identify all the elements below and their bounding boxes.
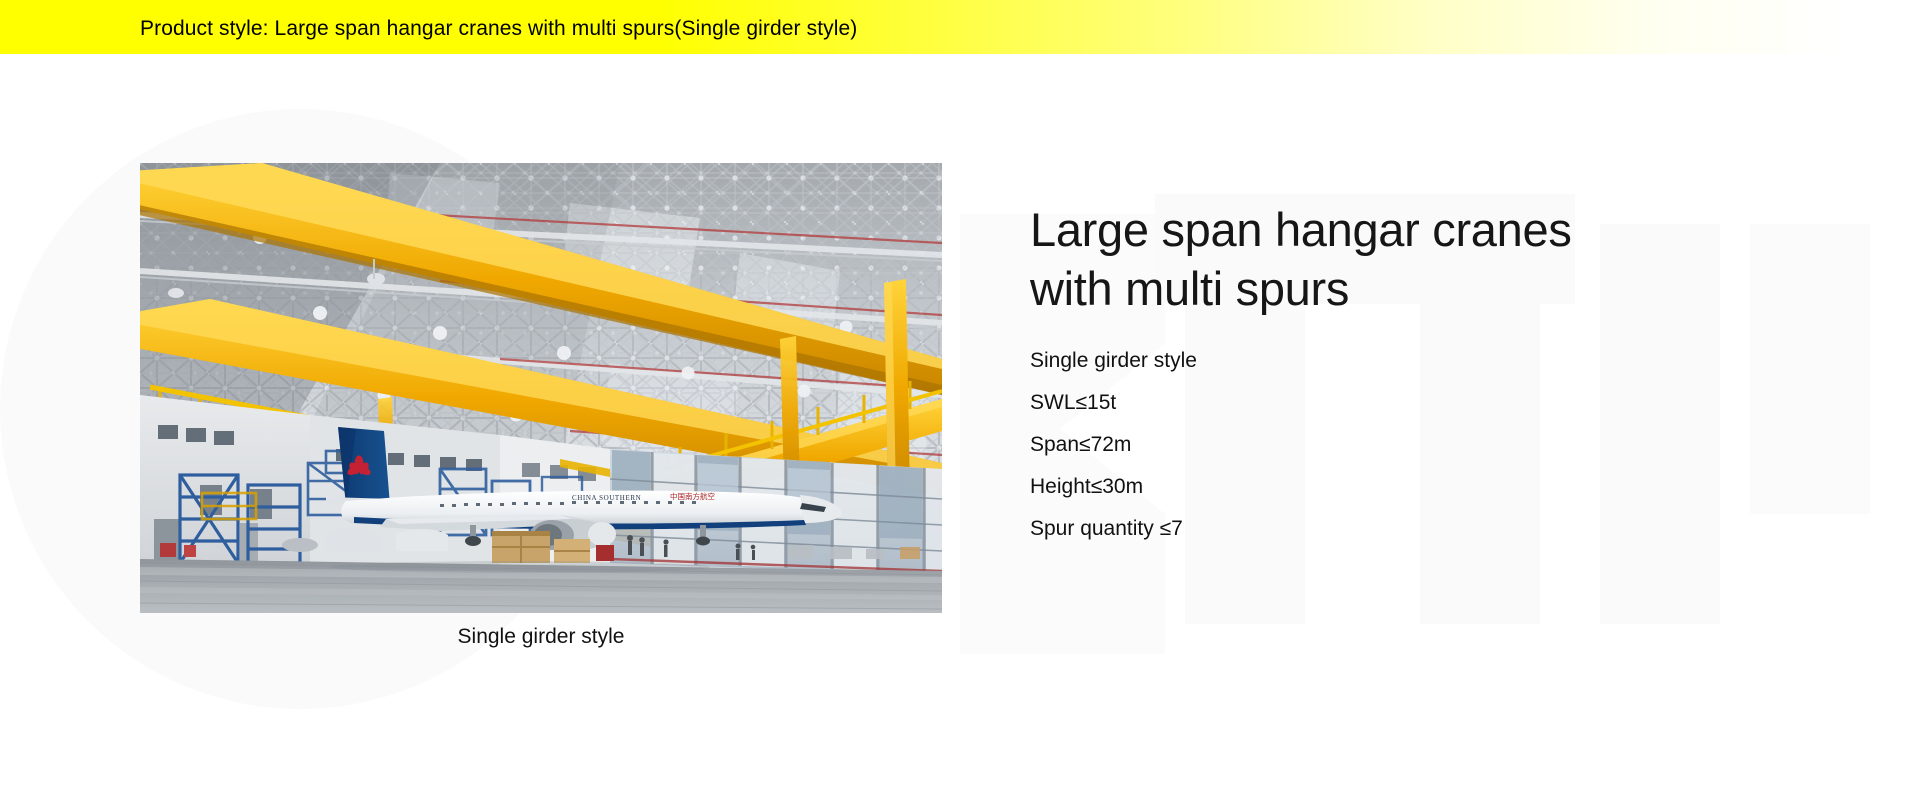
spec-list: Single girder style SWL≤15t Span≤72m Hei…: [1030, 340, 1750, 550]
hangar-photo-graphic: CHINA SOUTHERN 中国南方航空: [140, 163, 942, 613]
spec-item-height: Height≤30m: [1030, 466, 1750, 508]
photo-caption: Single girder style: [140, 625, 942, 649]
product-title-line2: with multi spurs: [1030, 262, 1349, 315]
spec-item-style: Single girder style: [1030, 340, 1750, 382]
product-style-header: Product style: Large span hangar cranes …: [140, 17, 857, 41]
spec-item-swl: SWL≤15t: [1030, 382, 1750, 424]
product-title: Large span hangar cranes with multi spur…: [1030, 200, 1750, 318]
product-title-line1: Large span hangar cranes: [1030, 203, 1572, 256]
header-band: Product style: Large span hangar cranes …: [0, 0, 1920, 54]
spec-item-span: Span≤72m: [1030, 424, 1750, 466]
slide-root: Product style: Large span hangar cranes …: [0, 0, 1920, 800]
product-info-column: Large span hangar cranes with multi spur…: [1030, 200, 1750, 550]
hangar-photo: CHINA SOUTHERN 中国南方航空: [140, 163, 942, 613]
spec-item-spur: Spur quantity ≤7: [1030, 508, 1750, 550]
svg-text:CHINA SOUTHERN: CHINA SOUTHERN: [572, 494, 641, 502]
svg-text:中国南方航空: 中国南方航空: [670, 491, 715, 501]
